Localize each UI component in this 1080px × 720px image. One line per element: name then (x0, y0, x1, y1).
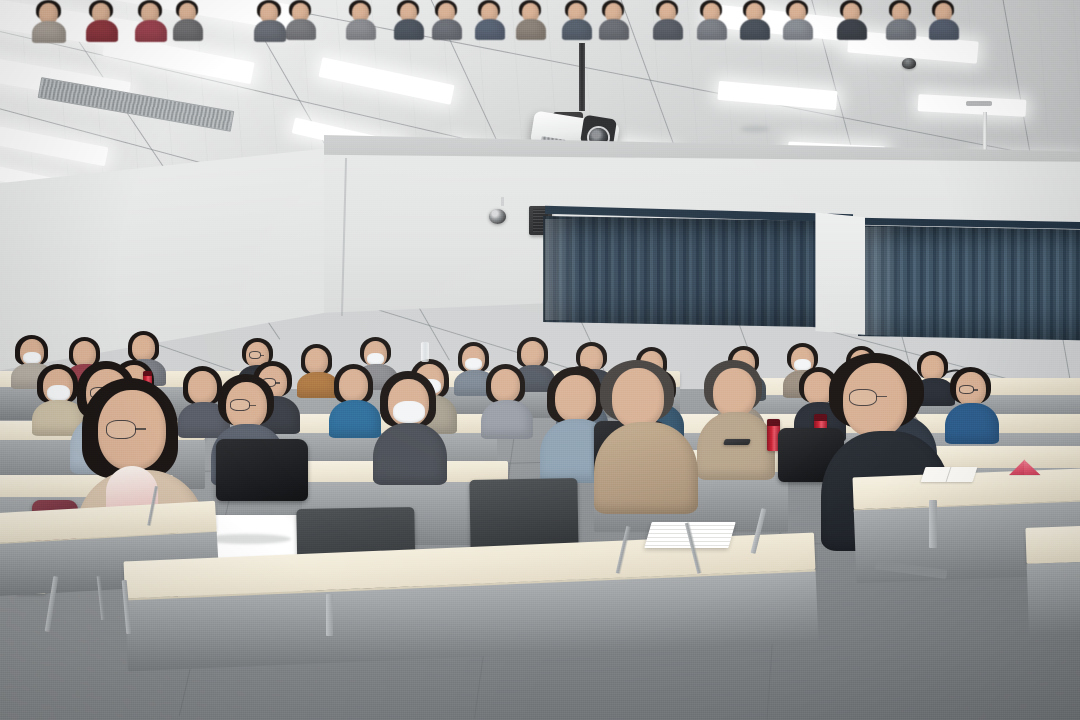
audience-member (837, 0, 867, 38)
wall-pillar (815, 212, 865, 334)
audience-member (346, 0, 376, 38)
projector-mount-pole (579, 43, 585, 111)
water-bottle (421, 342, 429, 362)
audience-member (86, 0, 118, 40)
audience-member (481, 364, 533, 438)
dome-detector-icon (902, 58, 916, 69)
ceiling-smudge (740, 126, 770, 132)
audience-member (475, 0, 505, 38)
audience-member (653, 0, 683, 38)
audience-member (254, 0, 286, 40)
antenna-base (966, 101, 992, 106)
face-mask (393, 401, 425, 423)
audience-member (562, 0, 592, 38)
audience-member (783, 0, 813, 38)
audience-member (516, 0, 546, 38)
audience-member (929, 0, 959, 38)
wall-left (0, 144, 367, 374)
eyeglasses (959, 385, 974, 394)
dome-camera-icon (489, 209, 506, 224)
audience-member-center (594, 360, 698, 510)
curtain-panel-left (543, 216, 854, 328)
camera-arm (501, 197, 504, 206)
audience-member (697, 0, 727, 38)
face (612, 368, 664, 428)
audience-member (945, 367, 999, 443)
notebook (921, 467, 978, 482)
black-backpack (216, 439, 308, 501)
audience-member (394, 0, 424, 38)
curtain-highlight (545, 219, 577, 320)
audience-member (740, 0, 770, 38)
desk-leg (929, 500, 937, 548)
eyeglasses (106, 420, 136, 439)
audience-member (599, 0, 629, 38)
audience-member (432, 0, 462, 38)
classroom-photo (0, 0, 1080, 720)
eyeglasses (230, 399, 250, 411)
eyeglasses (249, 351, 261, 359)
audience-member (286, 0, 316, 38)
laptop (723, 439, 751, 445)
audience-member (373, 371, 447, 483)
audience-member (32, 0, 66, 40)
audience-member (886, 0, 916, 38)
audience-member (697, 360, 775, 478)
face-mask (465, 358, 482, 370)
audience-member (173, 0, 203, 40)
table-row (1025, 524, 1080, 564)
audience-member (135, 0, 167, 40)
eyeglasses (849, 389, 877, 406)
face-mask (23, 352, 41, 364)
desk-leg (326, 594, 333, 636)
face-mask (47, 385, 70, 401)
torso (594, 422, 698, 514)
